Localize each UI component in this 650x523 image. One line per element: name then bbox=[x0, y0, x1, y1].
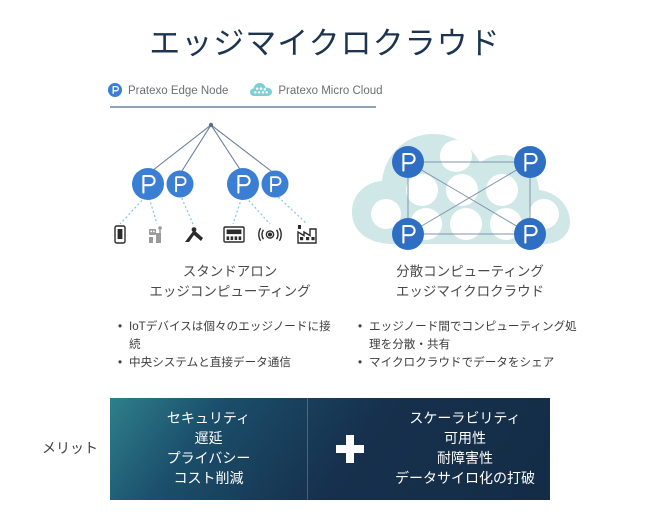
benefit-item: 遅延 bbox=[167, 429, 251, 449]
microcloud-caption-line2: エッジマイクロクラウド bbox=[355, 282, 585, 302]
cloud-node-p-2 bbox=[514, 146, 546, 178]
mobile-phone-icon bbox=[115, 226, 125, 243]
microcloud-caption-line1: 分散コンピューティング bbox=[355, 262, 585, 282]
legend-item-edge-node: Pratexo Edge Node bbox=[108, 83, 228, 100]
controller-panel-icon bbox=[224, 227, 244, 242]
standalone-edge-diagram bbox=[95, 112, 345, 252]
robot-arm-icon bbox=[185, 227, 203, 242]
benefit-item: 可用性 bbox=[392, 429, 538, 449]
slide-root: エッジマイクロクラウド Pratexo Edge Node bbox=[0, 0, 650, 523]
list-item: 中央システムと直接データ通信 bbox=[118, 354, 333, 372]
benefit-item: コスト削減 bbox=[167, 469, 251, 489]
benefits-label: メリット bbox=[42, 438, 98, 458]
list-item: エッジノード間でコンピューティング処理を分散・共有 bbox=[358, 318, 588, 353]
standalone-caption-line1: スタンドアロン bbox=[115, 262, 345, 282]
list-item: IoTデバイスは個々のエッジノードに接続 bbox=[118, 318, 333, 353]
benefit-item: プライバシー bbox=[167, 449, 251, 469]
benefits-bar: セキュリティ 遅延 プライバシー コスト削減 スケーラビリティ 可用性 耐障害性… bbox=[110, 398, 550, 500]
wireless-sensor-icon bbox=[259, 228, 281, 241]
edge-node-p-2 bbox=[167, 171, 194, 198]
benefit-item: セキュリティ bbox=[167, 409, 251, 429]
edge-node-p-1 bbox=[132, 168, 164, 200]
benefits-left-panel: セキュリティ 遅延 プライバシー コスト削減 bbox=[110, 398, 308, 500]
edge-node-p-3 bbox=[227, 168, 259, 200]
legend-label-edge-node: Pratexo Edge Node bbox=[128, 85, 228, 97]
legend-label-micro-cloud: Pratexo Micro Cloud bbox=[278, 85, 382, 97]
pratexo-cloud-icon bbox=[250, 82, 272, 100]
edge-node-group bbox=[132, 168, 289, 200]
device-icon-row bbox=[115, 225, 316, 243]
benefit-item: スケーラビリティ bbox=[392, 409, 538, 429]
legend-item-micro-cloud: Pratexo Micro Cloud bbox=[250, 82, 382, 100]
plus-icon bbox=[308, 432, 392, 466]
micro-cloud-diagram bbox=[340, 112, 585, 257]
cloud-node-p-3 bbox=[392, 218, 424, 250]
microcloud-bullet-list: エッジノード間でコンピューティング処理を分散・共有 マイクロクラウドでデータをシ… bbox=[358, 318, 588, 373]
cloud-node-p-1 bbox=[392, 146, 424, 178]
microcloud-caption: 分散コンピューティング エッジマイクロクラウド bbox=[355, 262, 585, 303]
standalone-bullet-list: IoTデバイスは個々のエッジノードに接続 中央システムと直接データ通信 bbox=[118, 318, 333, 373]
benefits-right-text: スケーラビリティ 可用性 耐障害性 データサイロ化の打破 bbox=[392, 409, 550, 489]
legend: Pratexo Edge Node Pratexo Micro Cloud bbox=[108, 82, 383, 100]
benefit-item: 耐障害性 bbox=[392, 449, 538, 469]
standalone-caption: スタンドアロン エッジコンピューティング bbox=[115, 262, 345, 303]
list-item: マイクロクラウドでデータをシェア bbox=[358, 354, 588, 372]
standalone-caption-line2: エッジコンピューティング bbox=[115, 282, 345, 302]
benefits-right-panel: スケーラビリティ 可用性 耐障害性 データサイロ化の打破 bbox=[308, 398, 550, 500]
factory-icon bbox=[298, 225, 316, 243]
edge-node-p-4 bbox=[262, 171, 289, 198]
cloud-node-p-4 bbox=[514, 218, 546, 250]
central-system-hub-icon bbox=[209, 123, 213, 127]
sensor-meter-icon bbox=[149, 226, 162, 243]
legend-divider bbox=[110, 106, 376, 108]
page-title: エッジマイクロクラウド bbox=[0, 18, 650, 63]
pratexo-p-circle-icon bbox=[108, 83, 122, 100]
benefit-item: データサイロ化の打破 bbox=[392, 469, 538, 489]
